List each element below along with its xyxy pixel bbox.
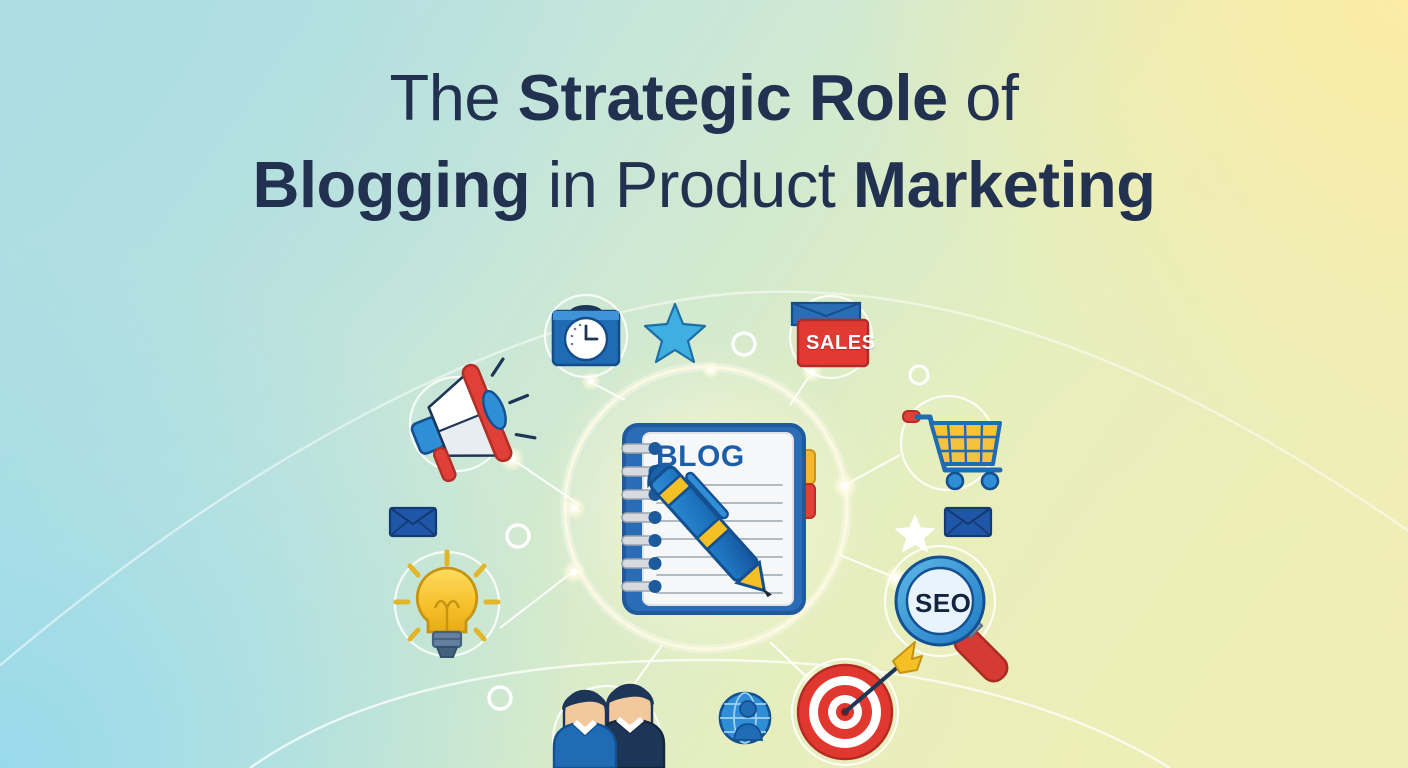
illustration-layer xyxy=(0,0,1408,768)
blog-notebook xyxy=(622,425,815,613)
envelope-icon xyxy=(390,508,436,536)
shopping-cart-icon xyxy=(901,396,1000,490)
sales-tag-icon xyxy=(790,296,872,378)
envelope-icon xyxy=(945,508,991,536)
clock-icon xyxy=(545,295,627,377)
star-icon xyxy=(896,516,934,551)
ring-decoration xyxy=(489,687,511,709)
lightbulb-icon xyxy=(395,552,499,657)
ring-decoration xyxy=(507,525,529,547)
banner-canvas: The Strategic Role of Blogging in Produc… xyxy=(0,0,1408,768)
target-arrow-icon xyxy=(792,642,922,765)
ring-decoration xyxy=(910,366,928,384)
team-people-icon xyxy=(553,685,664,768)
globe-user-icon xyxy=(720,693,770,743)
